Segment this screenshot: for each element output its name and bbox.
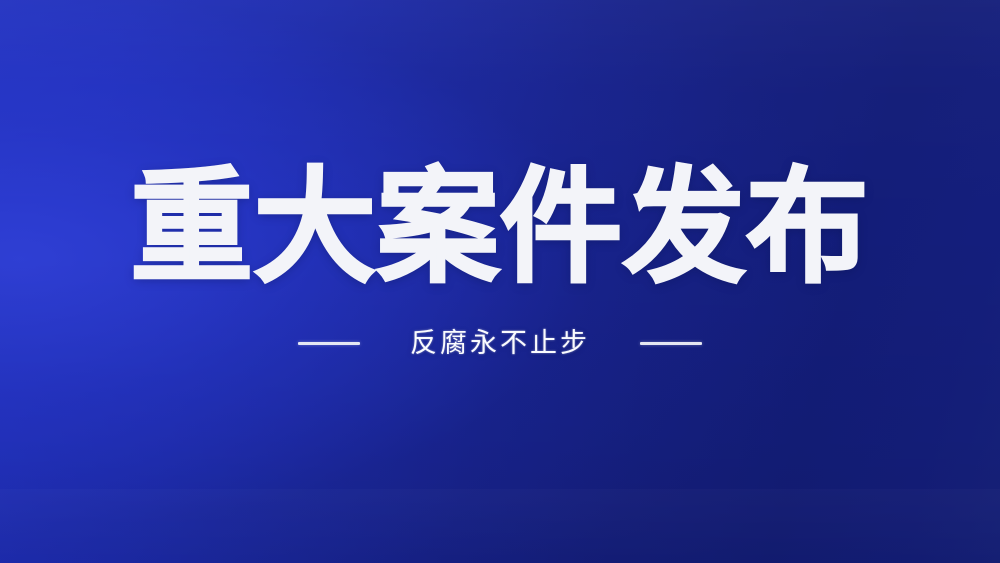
banner-subtitle: 反腐永不止步 (410, 330, 590, 357)
banner-graphic: 重大案件发布 反腐永不止步 (0, 0, 1000, 563)
left-rule-icon (298, 342, 360, 345)
banner-title: 重大案件发布 (131, 166, 870, 290)
banner-content: 重大案件发布 反腐永不止步 (0, 0, 1000, 563)
right-rule-icon (640, 342, 702, 345)
banner-subtitle-row: 反腐永不止步 (298, 330, 702, 357)
